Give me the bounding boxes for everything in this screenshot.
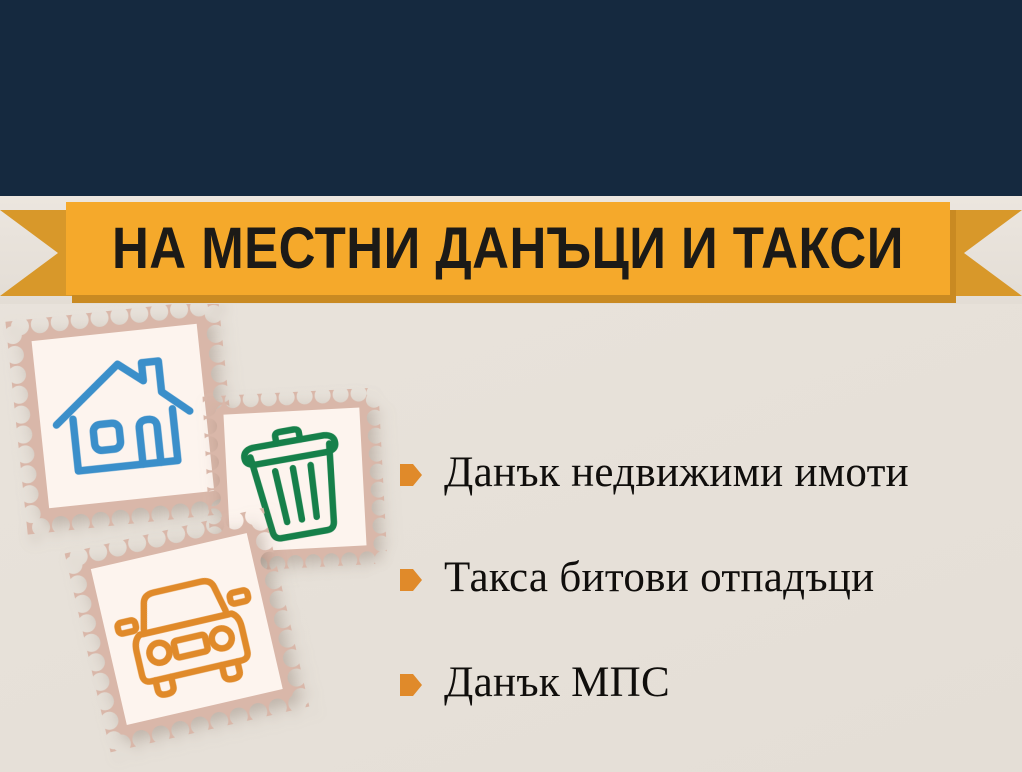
ribbon-banner: НА МЕСТНИ ДАНЪЦИ И ТАКСИ [0, 196, 1022, 312]
arrow-pennant-icon [400, 462, 422, 488]
list-item[interactable]: Данък недвижими имоти [400, 420, 1010, 525]
list-item-label: Данък МПС [444, 658, 670, 707]
arrow-pennant-icon [400, 567, 422, 593]
list-item[interactable]: Данък МПС [400, 630, 1010, 735]
list-item-label: Данък недвижими имоти [444, 448, 909, 497]
ribbon-main: НА МЕСТНИ ДАНЪЦИ И ТАКСИ [66, 202, 950, 295]
ribbon-text: НА МЕСТНИ ДАНЪЦИ И ТАКСИ [112, 215, 904, 282]
tax-type-list: Данък недвижими имоти Такса битови отпад… [400, 420, 1010, 735]
poster-root: община ЕЛИН ПЕЛИН [0, 0, 1022, 772]
list-item[interactable]: Такса битови отпадъци [400, 525, 1010, 630]
list-item-label: Такса битови отпадъци [444, 553, 874, 602]
arrow-pennant-icon [400, 672, 422, 698]
stamp-cluster [0, 300, 420, 772]
header-bar [0, 0, 1022, 196]
